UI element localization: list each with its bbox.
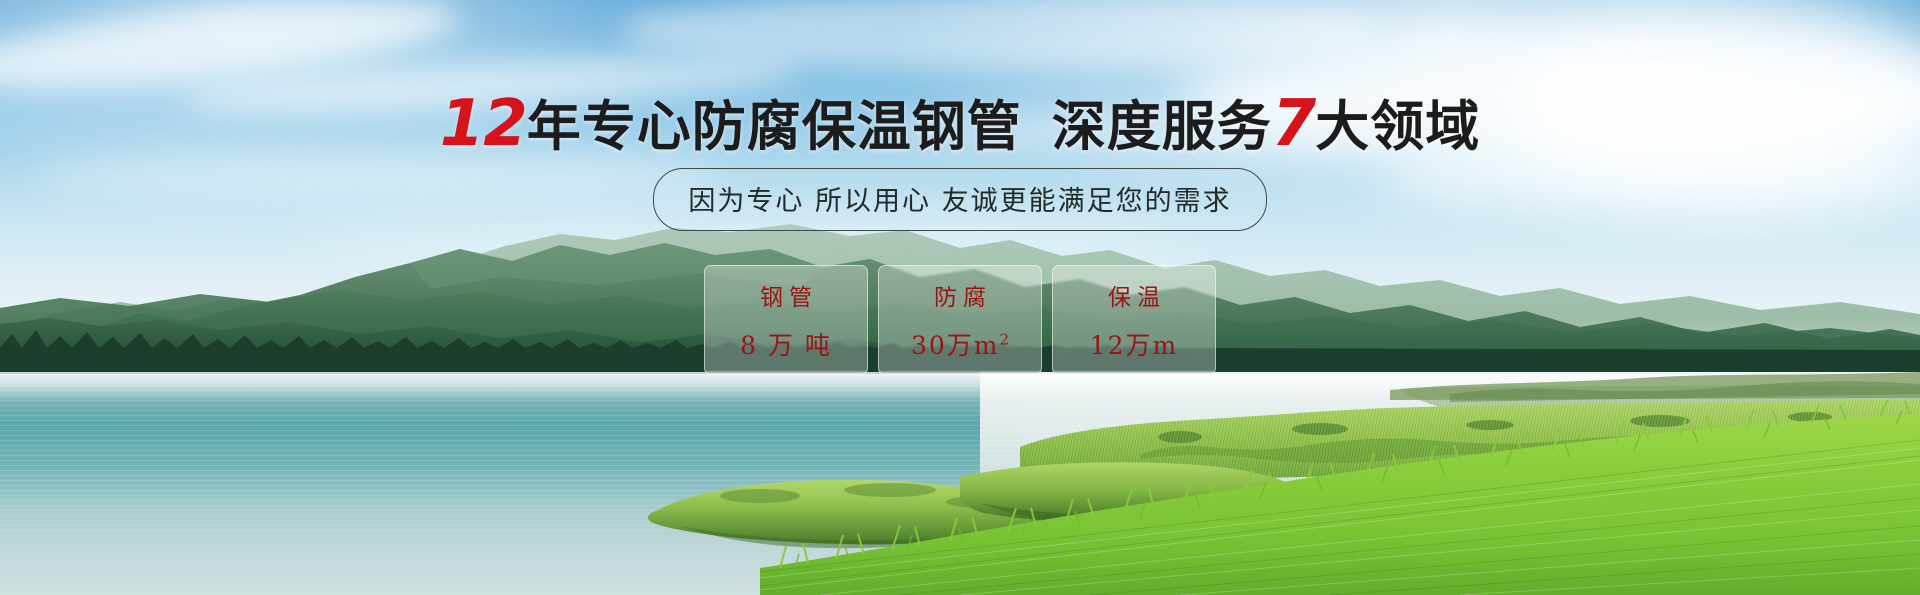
stat-card-value: 30万m2 bbox=[911, 326, 1009, 362]
page-title: 12年专心防腐保温钢管深度服务7大领域 bbox=[0, 82, 1920, 161]
stat-card-list: 钢管 8 万 吨 防腐 30万m2 保温 12万m bbox=[0, 265, 1920, 375]
stat-card-anticorrosion[interactable]: 防腐 30万m2 bbox=[878, 265, 1042, 375]
subtitle-container: 因为专心 所以用心 友诚更能满足您的需求 bbox=[0, 168, 1920, 231]
stat-card-insulation[interactable]: 保温 12万m bbox=[1052, 265, 1216, 375]
headline-years-number: 12 bbox=[440, 87, 527, 161]
stat-card-value-main: 30万m bbox=[911, 331, 1000, 360]
stat-card-steel-pipe[interactable]: 钢管 8 万 吨 bbox=[704, 265, 868, 375]
headline-domains-number: 7 bbox=[1272, 87, 1316, 161]
stat-card-value: 8 万 吨 bbox=[740, 326, 832, 362]
stat-card-value: 12万m bbox=[1090, 326, 1179, 362]
stat-card-value-superscript: 2 bbox=[999, 331, 1009, 349]
hero-banner: 12年专心防腐保温钢管深度服务7大领域 因为专心 所以用心 友诚更能满足您的需求… bbox=[0, 0, 1920, 595]
stat-card-value-main: 8 万 吨 bbox=[740, 331, 832, 360]
headline-second-prefix: 深度服务 bbox=[1052, 95, 1272, 158]
headline-years-suffix: 年 bbox=[527, 95, 582, 158]
stat-card-value-main: 12万m bbox=[1090, 331, 1179, 360]
headline-second-suffix: 大领域 bbox=[1315, 95, 1480, 158]
stat-card-label: 钢管 bbox=[754, 278, 818, 312]
stat-card-label: 保温 bbox=[1102, 278, 1166, 312]
stat-card-label: 防腐 bbox=[928, 278, 992, 312]
headline-main-text: 专心防腐保温钢管 bbox=[582, 95, 1022, 158]
foreground-grass-field bbox=[760, 400, 1920, 595]
subtitle-pill: 因为专心 所以用心 友诚更能满足您的需求 bbox=[653, 168, 1266, 231]
